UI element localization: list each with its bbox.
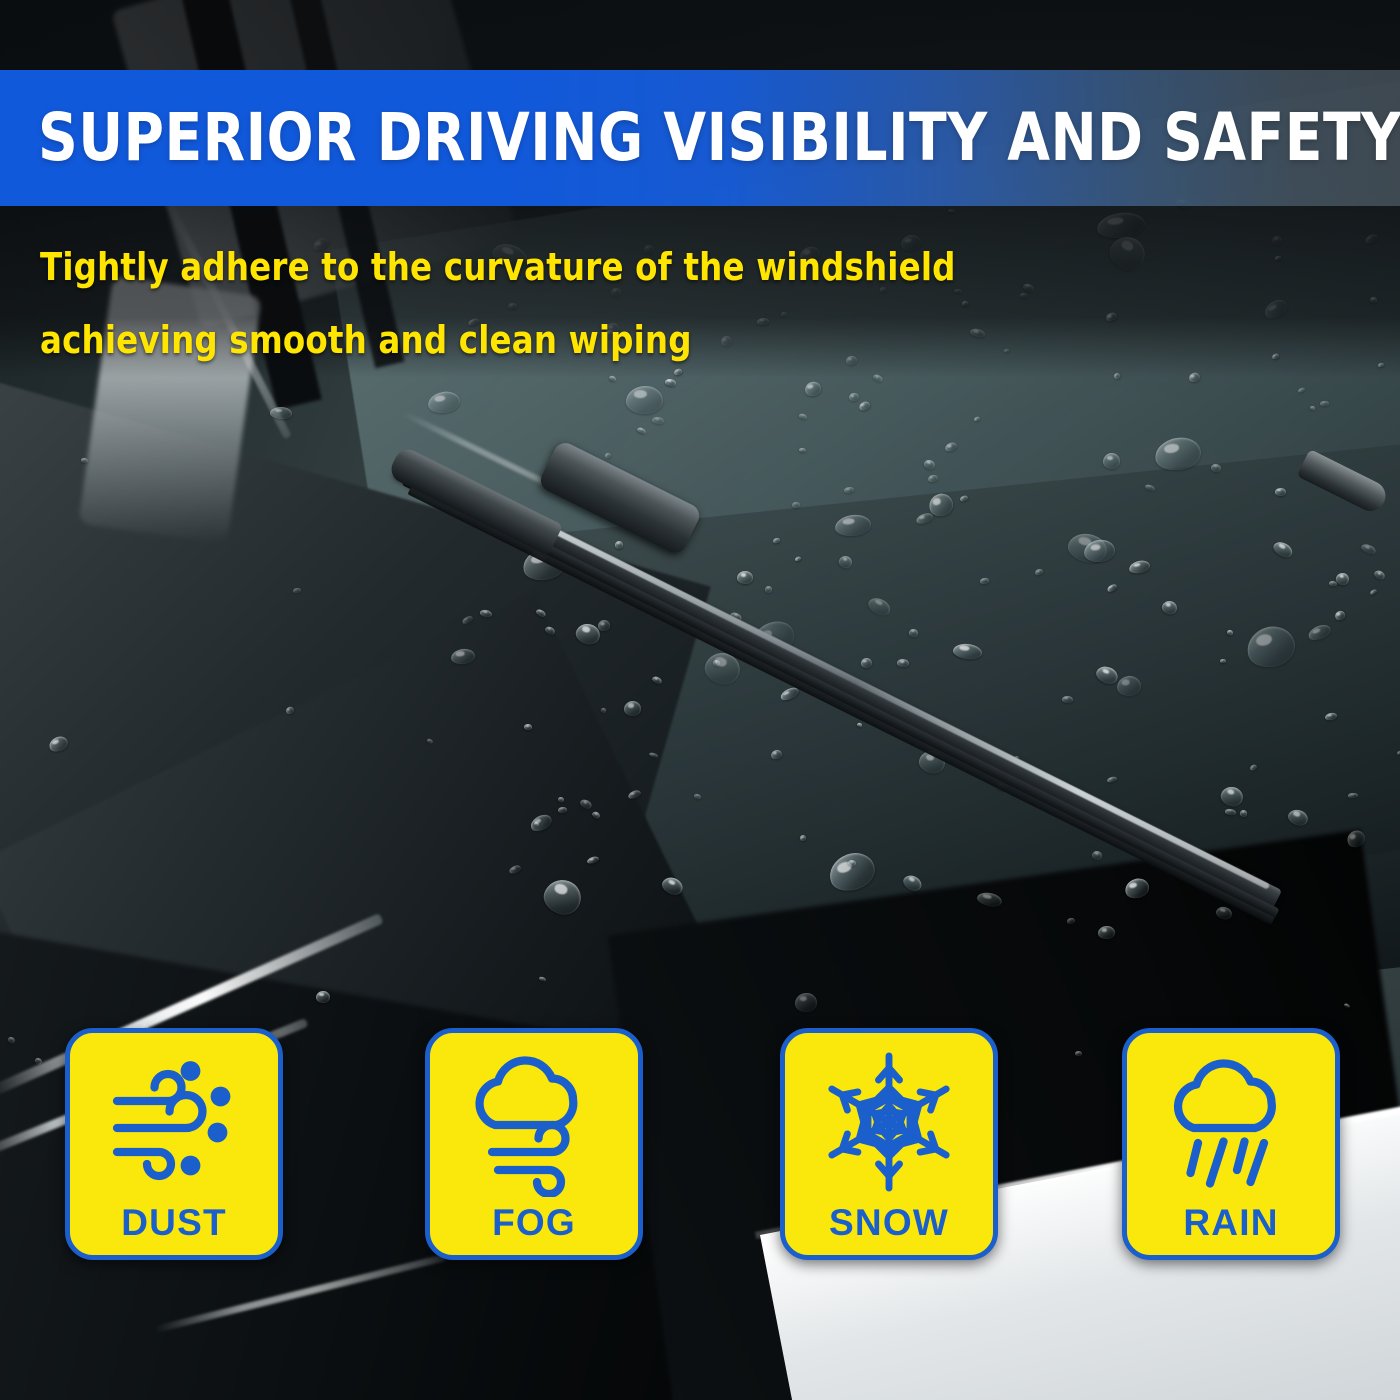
- water-droplet: [794, 992, 817, 1012]
- badge-label-rain: RAIN: [1183, 1199, 1278, 1247]
- badge-dust[interactable]: DUST: [65, 1028, 283, 1260]
- wiper-blade: [405, 425, 1310, 895]
- badge-snow[interactable]: SNOW: [780, 1028, 998, 1260]
- water-droplet: [80, 457, 87, 463]
- page-title: SUPERIOR DRIVING VISIBILITY AND SAFETY: [38, 88, 1294, 188]
- subtitle-line-2: achieving smooth and clean wiping: [40, 318, 692, 362]
- wiper-blade-end-cap: [387, 445, 563, 556]
- water-droplet: [1098, 926, 1115, 940]
- water-droplet: [292, 588, 300, 594]
- badge-label-fog: FOG: [492, 1199, 576, 1247]
- feature-badge-row: DUST FOG: [0, 1028, 1400, 1278]
- cloud-rain-icon: [1156, 1047, 1306, 1197]
- product-feature-image: SUPERIOR DRIVING VISIBILITY AND SAFETY T…: [0, 0, 1400, 1400]
- wind-dust-icon: [99, 1047, 249, 1197]
- badge-label-snow: SNOW: [829, 1199, 949, 1247]
- badge-label-dust: DUST: [121, 1199, 227, 1247]
- badge-rain[interactable]: RAIN: [1122, 1028, 1340, 1260]
- water-droplet: [626, 385, 664, 414]
- badge-fog[interactable]: FOG: [425, 1028, 643, 1260]
- wiper-blade-rubber: [407, 487, 1274, 925]
- snowflake-icon: [814, 1047, 964, 1197]
- subtitle-line-1: Tightly adhere to the curvature of the w…: [40, 245, 956, 289]
- cloud-fog-icon: [459, 1047, 609, 1197]
